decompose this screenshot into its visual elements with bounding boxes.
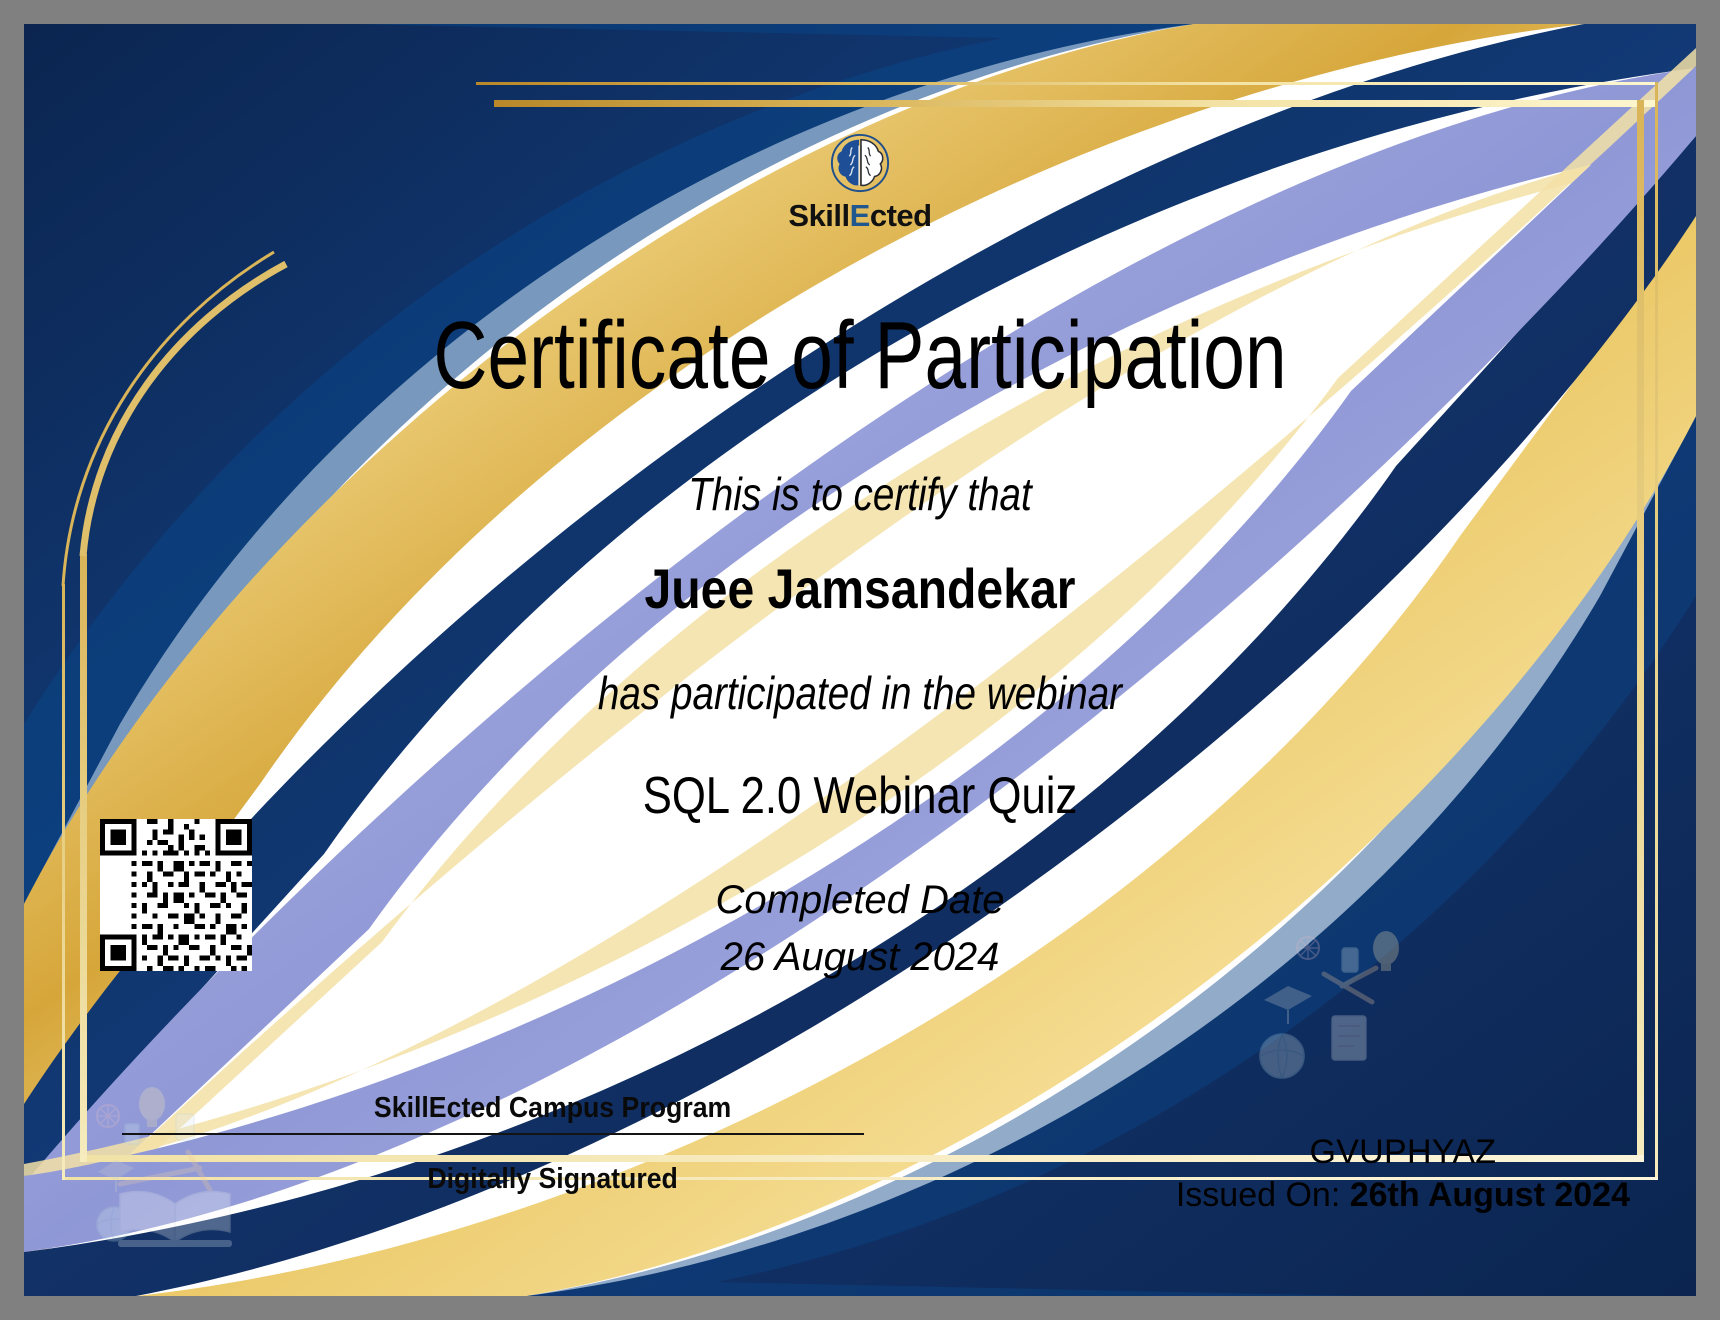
page-title: Certificate of Participation: [208, 306, 1512, 407]
issued-on-label: Issued On:: [1176, 1176, 1350, 1214]
brand-name-part2: cted: [870, 198, 932, 233]
signature-block: SkillEcted Campus Program Digitally Sign…: [94, 1092, 864, 1196]
brand-name-part1: Skill: [788, 198, 849, 233]
brand-name-highlight: E: [850, 198, 870, 233]
brain-icon: [829, 132, 891, 194]
issued-on-date: 26th August 2024: [1350, 1176, 1630, 1214]
completion-date-block: Completed Date 26 August 2024: [24, 872, 1696, 986]
intro-line: This is to certify that: [158, 467, 1562, 521]
recipient-name: Juee Jamsandekar: [141, 556, 1579, 621]
certificate-root: SkillEcted Certificate of Participation …: [0, 0, 1720, 1320]
certificate-content: SkillEcted Certificate of Participation …: [24, 24, 1696, 1296]
certificate-code: GVUPHYAZ: [1176, 1131, 1630, 1175]
signature-note: Digitally Signatured: [125, 1163, 833, 1196]
certificate-paper: SkillEcted Certificate of Participation …: [24, 24, 1696, 1296]
brand-logo: SkillEcted: [24, 132, 1696, 231]
completed-label: Completed Date: [24, 872, 1696, 929]
completed-date: 26 August 2024: [24, 929, 1696, 986]
action-line: has participated in the webinar: [158, 666, 1562, 720]
qr-code-icon[interactable]: [100, 819, 252, 971]
issued-on-line: Issued On: 26th August 2024: [1176, 1174, 1630, 1218]
course-name: SQL 2.0 Webinar Quiz: [158, 766, 1562, 826]
signature-signer: SkillEcted Campus Program: [125, 1092, 833, 1125]
issue-block: GVUPHYAZ Issued On: 26th August 2024: [1176, 1131, 1630, 1218]
brand-wordmark: SkillEcted: [788, 200, 931, 231]
signature-rule: [122, 1133, 864, 1135]
